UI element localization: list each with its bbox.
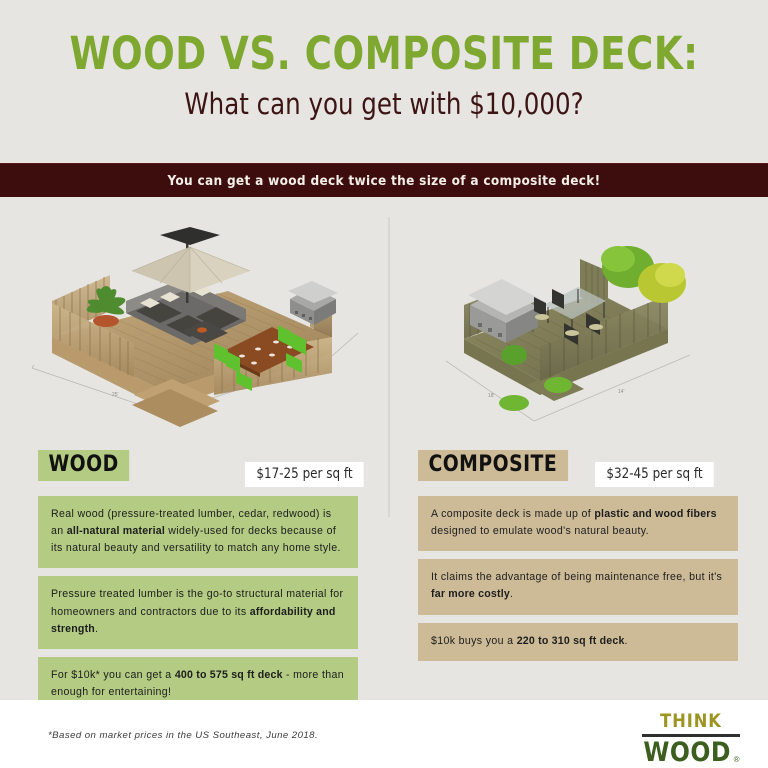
comparison-body: 25' 24' — [0, 197, 768, 700]
footnote-disclaimer: *Based on market prices in the US Southe… — [48, 730, 318, 741]
dimension-label-width: 18' — [488, 393, 495, 399]
header: WOOD VS. COMPOSITE DECK: What can you ge… — [0, 0, 768, 163]
dimension-label-width: 25' — [112, 392, 119, 398]
key-takeaway-banner: You can get a wood deck twice the size o… — [0, 163, 768, 197]
logo-think-text: THINK — [644, 712, 737, 731]
composite-deck-illustration: 18' 14' — [422, 243, 748, 438]
banner-text: You can get a wood deck twice the size o… — [168, 173, 601, 189]
wood-deck-illustration: 25' 24' — [14, 213, 374, 443]
wood-fact-1: Real wood (pressure-treated lumber, ceda… — [38, 496, 358, 568]
registered-trademark-icon: ® — [734, 755, 740, 764]
wood-price-badge: $17-25 per sq ft — [245, 462, 364, 487]
logo-wood-text: WOOD — [644, 739, 732, 766]
footer: *Based on market prices in the US Southe… — [0, 700, 768, 768]
page-subtitle: What can you get with $10,000? — [23, 90, 745, 119]
wood-category-row: WOOD $17-25 per sq ft — [38, 450, 358, 482]
dimension-label-depth: 14' — [618, 389, 625, 395]
column-divider — [388, 217, 390, 517]
logo-wood-row: WOOD ® — [642, 739, 740, 766]
think-wood-logo: THINK WOOD ® — [642, 712, 740, 766]
composite-category-label: COMPOSITE — [418, 450, 568, 481]
wood-fact-2: Pressure treated lumber is the go-to str… — [38, 576, 358, 648]
wood-column: WOOD $17-25 per sq ft Real wood (pressur… — [38, 450, 358, 712]
composite-fact-3: $10k buys you a 220 to 310 sq ft deck. — [418, 623, 738, 661]
infographic-poster: WOOD VS. COMPOSITE DECK: What can you ge… — [0, 0, 768, 768]
composite-fact-2: It claims the advantage of being mainten… — [418, 559, 738, 614]
composite-column: COMPOSITE $32-45 per sq ft A composite d… — [418, 450, 738, 661]
composite-price-badge: $32-45 per sq ft — [595, 462, 714, 487]
composite-fact-1: A composite deck is made up of plastic a… — [418, 496, 738, 551]
wood-category-label: WOOD — [38, 450, 129, 481]
page-title: WOOD VS. COMPOSITE DECK: — [31, 31, 738, 76]
patio-umbrella — [132, 227, 250, 303]
composite-category-row: COMPOSITE $32-45 per sq ft — [418, 450, 738, 482]
